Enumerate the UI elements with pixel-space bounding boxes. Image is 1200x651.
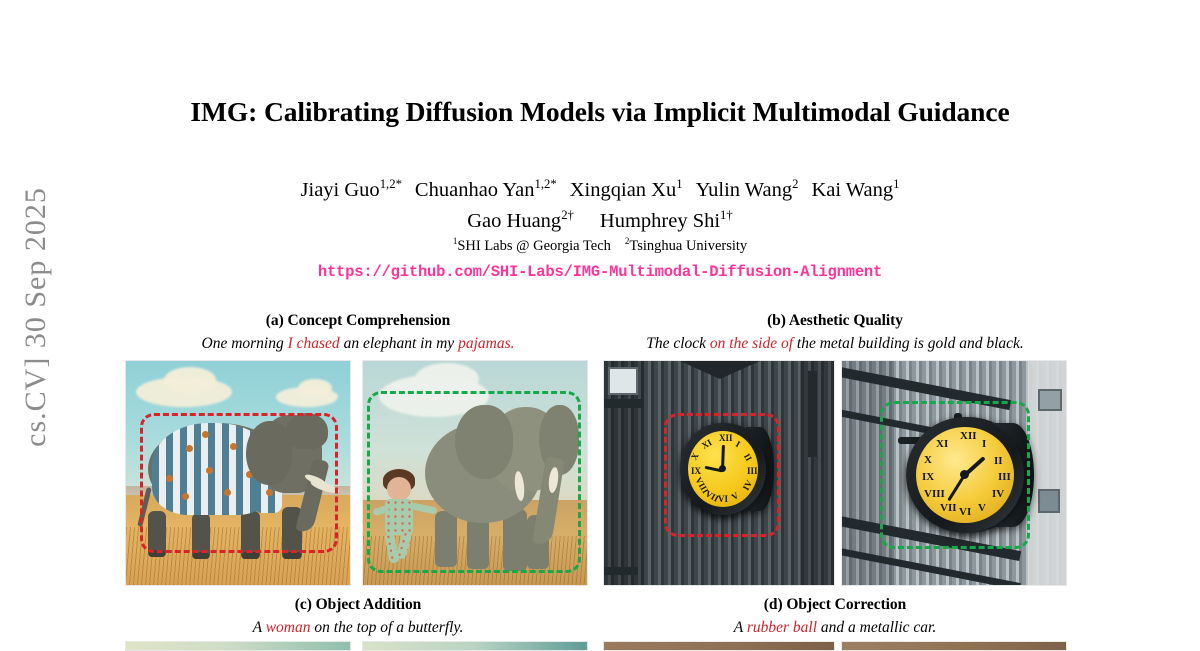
panel-c-image-left[interactable]: [125, 641, 351, 651]
annotation-box-red: [140, 413, 338, 553]
panel-b-header: (b) Aesthetic Quality The clock on the s…: [603, 312, 1067, 353]
panel-d-prompt: A rubber ball and a metallic car.: [603, 619, 1067, 637]
panel-a-header: (a) Concept Comprehension One morning I …: [125, 312, 591, 353]
prompt-part: an elephant in my: [340, 335, 458, 352]
panel-c-prompt: A woman on the top of a butterfly.: [125, 619, 591, 637]
annotation-box-green: [880, 401, 1030, 549]
panel-d-header: (d) Object Correction A rubber ball and …: [603, 596, 1067, 637]
panel-a-title: (a) Concept Comprehension: [125, 312, 591, 330]
prompt-part-highlight: on the side of: [710, 335, 793, 352]
panel-c-image-right[interactable]: [362, 641, 588, 651]
prompt-part: on the top of a butterfly.: [311, 619, 464, 636]
panel-b-prompt: The clock on the side of the metal build…: [603, 335, 1067, 353]
panel-c-title: (c) Object Addition: [125, 596, 591, 614]
prompt-part: and a metallic car.: [817, 619, 936, 636]
prompt-part-highlight: woman: [266, 619, 311, 636]
panel-c-header: (c) Object Addition A woman on the top o…: [125, 596, 591, 637]
panel-a-image-right[interactable]: [362, 360, 588, 586]
scene-clock-flat-wall: XII I II III IV V VI VII VIII IX X XI: [604, 361, 834, 585]
prompt-part: the metal building is gold and black.: [793, 335, 1024, 352]
prompt-part-highlight: pajamas.: [458, 335, 514, 352]
teaser-figure: (a) Concept Comprehension One morning I …: [0, 0, 1200, 648]
scene-kid-chasing-elephant: [363, 361, 587, 585]
panel-b-image-left[interactable]: XII I II III IV V VI VII VIII IX X XI: [603, 360, 835, 586]
panel-b-title: (b) Aesthetic Quality: [603, 312, 1067, 330]
prompt-part: A: [734, 619, 747, 636]
prompt-part-highlight: rubber ball: [747, 619, 817, 636]
prompt-part: One morning: [202, 335, 288, 352]
annotation-box-green: [367, 391, 581, 573]
panel-a-prompt: One morning I chased an elephant in my p…: [125, 335, 591, 353]
panel-d-image-left[interactable]: [603, 641, 835, 651]
prompt-part-highlight: I chased: [288, 335, 340, 352]
annotation-box-red: [664, 413, 780, 537]
prompt-part: A: [253, 619, 266, 636]
scene-elephant-pajamas: [126, 361, 350, 585]
panel-b-image-right[interactable]: XII I II III IV V VI VII VIII IX X XI: [841, 360, 1067, 586]
panel-d-title: (d) Object Correction: [603, 596, 1067, 614]
prompt-part: The clock: [646, 335, 710, 352]
panel-a-image-left[interactable]: [125, 360, 351, 586]
panel-d-image-right[interactable]: [841, 641, 1067, 651]
scene-clock-side-mounted: XII I II III IV V VI VII VIII IX X XI: [842, 361, 1066, 585]
